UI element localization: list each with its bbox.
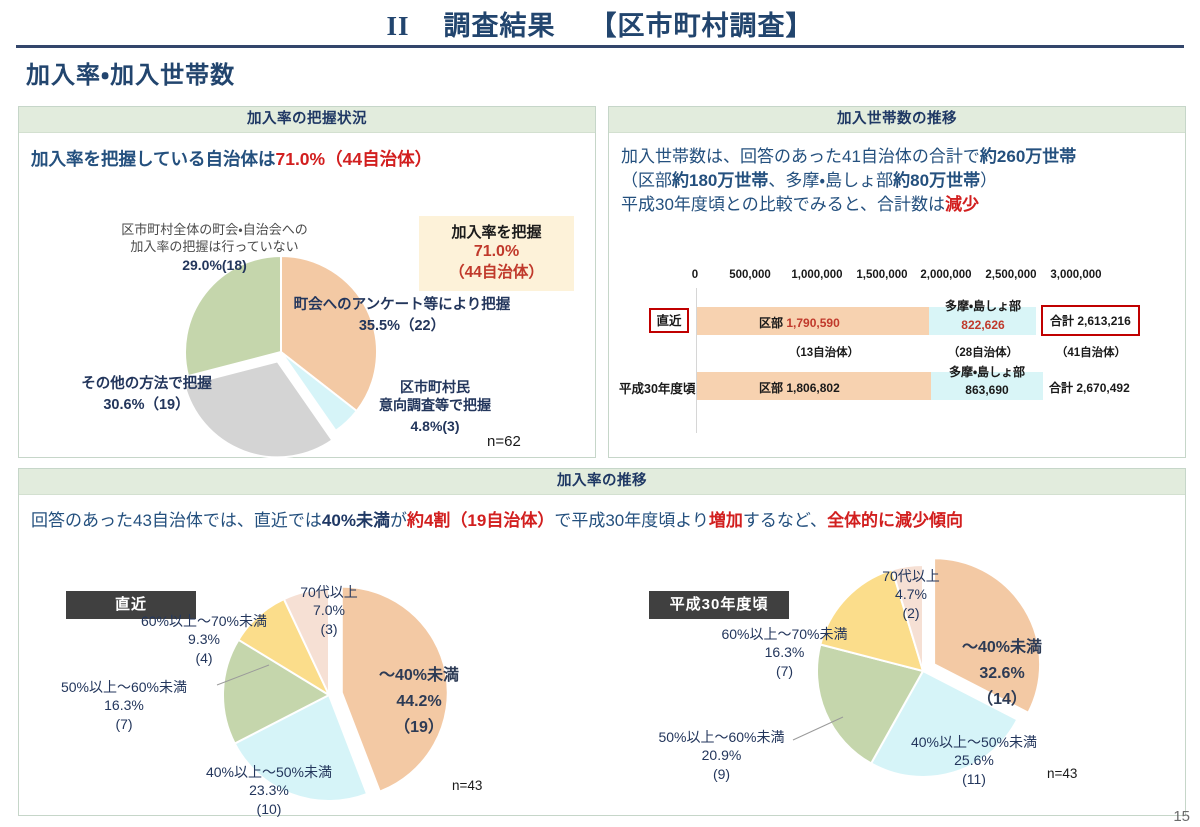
pieA-label-60-70-pct: 9.3% [114,630,294,648]
panel-membership-rate-status: 加入率の把握状況 加入率を把握している自治体は71.0%（44自治体） 加入率を… [18,106,596,458]
pie-label-resident-survey: 区市町村民 意向調査等で把握 4.8%(3) [355,378,515,435]
pieB-label-70plus-cnt: (2) [856,604,966,622]
pieA-label-60-70-cnt: (4) [114,649,294,667]
pieA-label-70plus-title: 70代以上 [274,583,384,601]
right-lead-1b: 約260万世帯 [980,147,1076,166]
pie-label-anketo-pct: 35.5% [359,318,400,334]
pieB-label-70plus-title: 70代以上 [856,567,966,585]
pie-label-other-method: その他の方法で把握 30.6%（19） [39,375,254,415]
pieA-label-under40-cnt: （19） [349,717,489,738]
right-lead-2b: 約180万世帯 [672,171,768,190]
pieB-label-50-60: 50%以上～60%未満 20.9% (9) [629,728,814,783]
pie-label-other-method-cnt: （19） [144,397,189,413]
pieB-label-under40: ～40%未満 32.6% （14） [932,637,1072,710]
pieA-label-under40-pct: 44.2% [349,691,489,712]
right-lead-3b: 減少 [945,195,979,214]
pieB-label-60-70-title: 60%以上～70%未満 [692,625,877,643]
xtick-6: 3,000,000 [1043,269,1109,281]
bar-h30-ku-name: 区部 [759,381,783,395]
pieA-label-50-60: 50%以上～60%未満 16.3% (7) [33,678,215,733]
page-number: 15 [1173,808,1190,825]
bar-recent-total-name: 合計 [1050,314,1074,328]
pieA-n-label: n=43 [452,778,482,793]
pieB-label-70plus: 70代以上 4.7% (2) [856,567,966,622]
right-lead-2e: ） [980,171,997,190]
bar-recent-total: 合計 2,613,216 [1041,305,1140,336]
right-lead-3a: 平成30年度頃との比較でみると、合計数は [621,195,945,214]
bar-h30-tama-name: 多摩・島しょ部 [931,363,1043,380]
pieA-label-60-70-title: 60%以上～70%未満 [114,612,294,630]
bar-recent-tama-name: 多摩・島しょ部 [929,297,1037,314]
pie-label-not-grasped-line2: 加入率の把握は行っていない [97,238,332,255]
pieB-n-label: n=43 [1047,766,1077,781]
panel-bottom-heading: 加入率の推移 [19,469,1185,495]
pie-label-resident-survey-line2: 意向調査等で把握 [355,396,515,414]
bar-recent-total-value: 2,613,216 [1077,314,1130,328]
pieB-label-under40-title: ～40%未満 [932,637,1072,658]
section-title: 加入率・加入世帯数 [26,55,235,90]
panel-household-trend: 加入世帯数の推移 加入世帯数は、回答のあった41自治体の合計で約260万世帯 （… [608,106,1186,458]
panel-right-heading: 加入世帯数の推移 [609,107,1185,133]
slide-page: II調査結果【区市町村調査】 加入率・加入世帯数 加入率の把握状況 加入率を把握… [0,0,1200,827]
bar-h30-ku-value: 1,806,802 [786,381,839,395]
pie-label-anketo: 町会へのアンケート等により把握 35.5%（22） [277,296,527,336]
xtick-3: 1,500,000 [849,269,915,281]
pie-n-label-left: n=62 [487,433,521,450]
right-lead-2c: 、多摩・島しょ部 [768,171,893,190]
xtick-0: 0 [675,269,715,281]
count-recent-tama: （28自治体） [929,344,1037,360]
panel-right-body: 加入世帯数は、回答のあった41自治体の合計で約260万世帯 （区部約180万世帯… [609,133,1185,457]
panel-right-lead: 加入世帯数は、回答のあった41自治体の合計で約260万世帯 （区部約180万世帯… [621,145,1076,217]
page-title-text: 調査結果 [444,11,556,41]
pie-label-anketo-cnt: （22） [400,318,445,334]
pieA-label-40-50-title: 40%以上～50%未満 [174,763,364,781]
pieB-label-40-50-title: 40%以上～50%未満 [879,733,1069,751]
page-title: II調査結果【区市町村調査】 [0,4,1200,43]
page-title-subtitle: 【区市町村調査】 [590,11,814,41]
bar-recent-ku-name: 区部 [759,316,783,330]
panel-membership-rate-trend: 加入率の推移 回答のあった43自治体では、直近では40%未満が約4割（19自治体… [18,468,1186,816]
pie-label-not-grasped-value: 29.0%(18) [97,256,332,274]
right-lead-2a: （区部 [621,171,672,190]
bar-row-key-h30: 平成30年度頃 [619,378,695,397]
title-divider [16,45,1184,48]
bar-h30-ku-text: 区部 1,806,802 [759,379,840,396]
pieB-label-40-50: 40%以上～50%未満 25.6% (11) [879,733,1069,788]
panel-left-body: 加入率を把握している自治体は71.0%（44自治体） 加入率を把握 71.0% … [19,133,595,457]
pieB-label-60-70-pct: 16.3% [692,643,877,661]
bar-recent-ku-value: 1,790,590 [786,316,839,330]
pieA-label-under40-title: ～40%未満 [349,665,489,686]
pieB-label-50-60-cnt: (9) [629,765,814,783]
bar-h30-total: 合計 2,670,492 [1049,379,1130,396]
pieA-label-50-60-title: 50%以上～60%未満 [33,678,215,696]
pieA-label-40-50-cnt: (10) [174,800,364,818]
pie-label-resident-survey-line1: 区市町村民 [355,378,515,396]
count-recent-ku: （13自治体） [769,344,879,360]
pie-label-other-method-pct: 30.6% [103,397,144,413]
pieA-label-under40: ～40%未満 44.2% （19） [349,665,489,738]
bar-h30-total-name: 合計 [1049,381,1073,395]
xtick-1: 500,000 [720,269,780,281]
right-lead-2d: 約80万世帯 [893,171,980,190]
pieB-label-40-50-cnt: (11) [879,770,1069,788]
pieB-label-40-50-pct: 25.6% [879,751,1069,769]
count-recent-total: （41自治体） [1041,344,1141,360]
xtick-2: 1,000,000 [784,269,850,281]
panel-bottom-body: 回答のあった43自治体では、直近では40%未満が約4割（19自治体）で平成30年… [19,495,1185,815]
bar-h30-tama-value: 863,690 [931,383,1043,397]
pie-label-anketo-title: 町会へのアンケート等により把握 [277,296,527,315]
pie-label-not-grasped: 区市町村全体の町会・自治会への 加入率の把握は行っていない 29.0%(18) [97,221,332,275]
pie-label-other-method-title: その他の方法で把握 [39,375,254,394]
panel-left-heading: 加入率の把握状況 [19,107,595,133]
pieA-label-40-50-pct: 23.3% [174,781,364,799]
pieA-label-40-50: 40%以上～50%未満 23.3% (10) [174,763,364,818]
bar-row-key-recent: 直近 [649,308,689,333]
pieA-label-60-70: 60%以上～70%未満 9.3% (4) [114,612,294,667]
pieB-label-60-70: 60%以上～70%未満 16.3% (7) [692,625,877,680]
pieB-label-under40-pct: 32.6% [932,663,1072,684]
pieB-label-60-70-cnt: (7) [692,662,877,680]
pieA-label-50-60-cnt: (7) [33,715,215,733]
pieA-label-50-60-pct: 16.3% [33,696,215,714]
pieL-slices [185,256,377,457]
page-title-numeral: II [386,11,409,41]
xtick-5: 2,500,000 [978,269,1044,281]
xtick-4: 2,000,000 [913,269,979,281]
pieB-label-under40-cnt: （14） [932,689,1072,710]
pieB-label-50-60-pct: 20.9% [629,746,814,764]
pieB-label-70plus-pct: 4.7% [856,585,966,603]
pieB-label-50-60-title: 50%以上～60%未満 [629,728,814,746]
bar-h30-total-value: 2,670,492 [1076,381,1129,395]
pie-label-not-grasped-line1: 区市町村全体の町会・自治会への [97,221,332,238]
bar-recent-ku-text: 区部 1,790,590 [759,314,840,331]
right-lead-1a: 加入世帯数は、回答のあった41自治体の合計で [621,147,980,166]
bar-recent-tama-value: 822,626 [929,318,1037,332]
